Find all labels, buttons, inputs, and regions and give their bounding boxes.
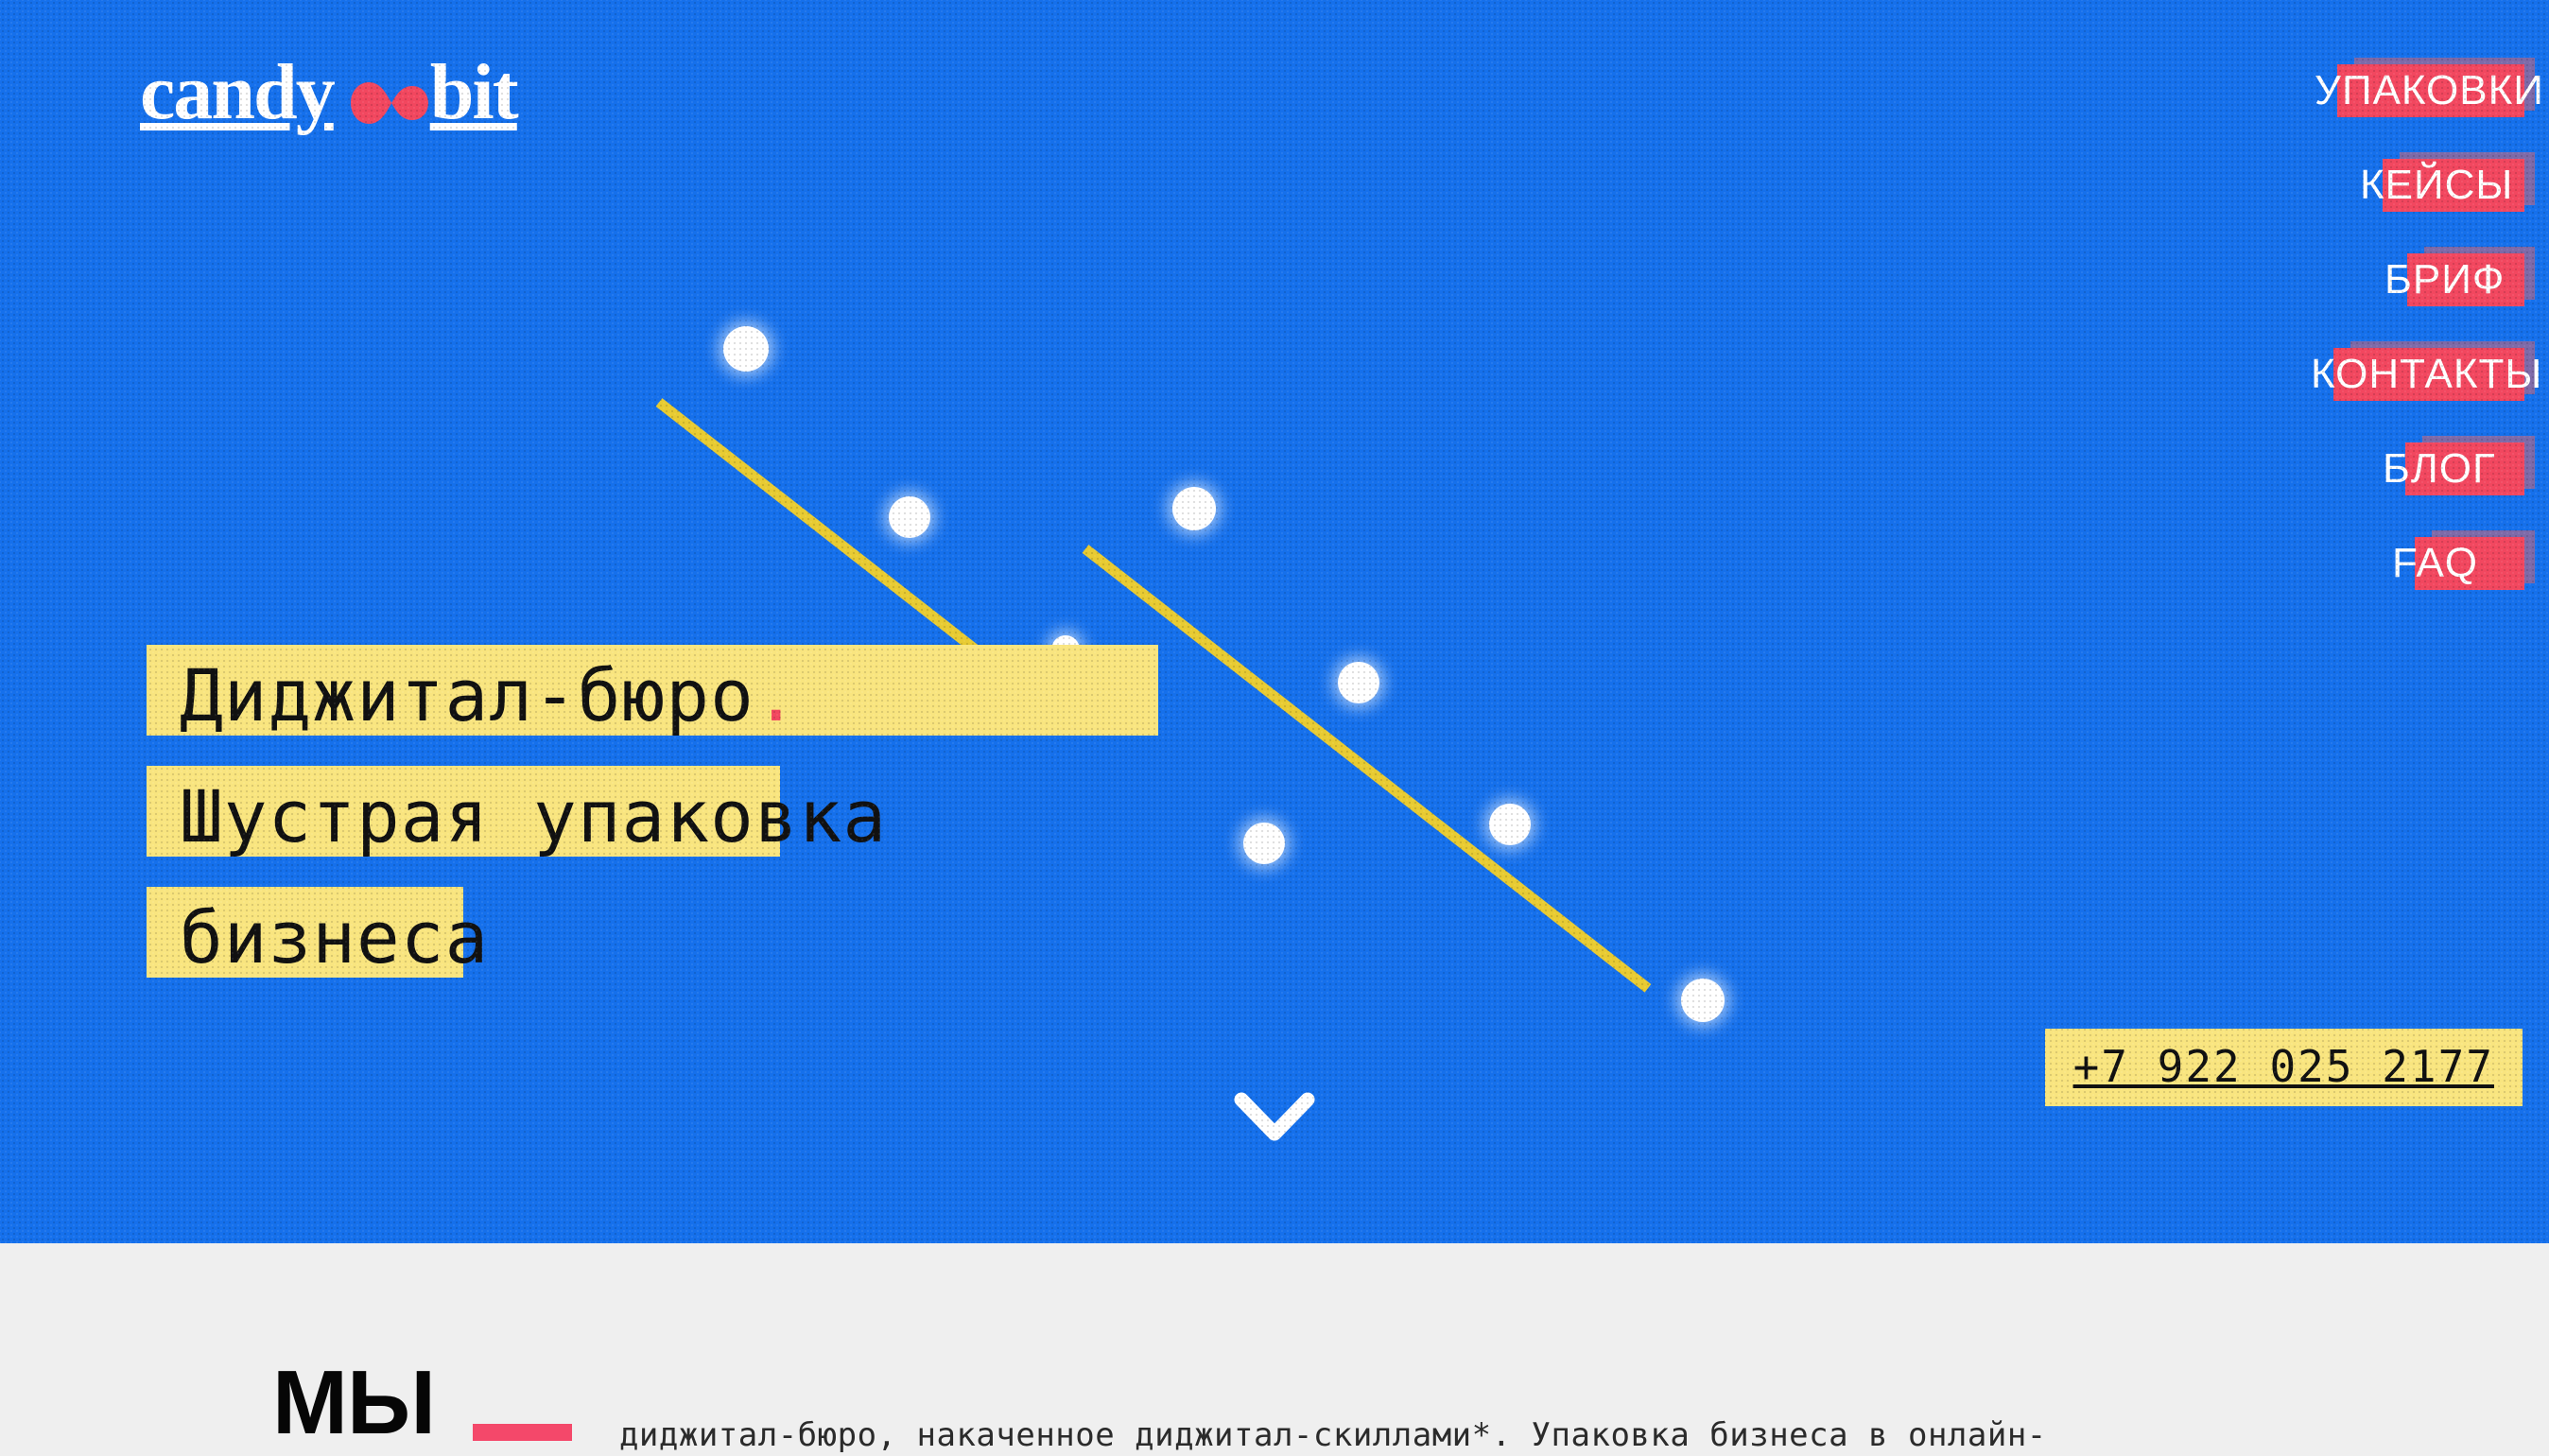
- decor-dot-7: [1489, 804, 1531, 845]
- nav-item-blog[interactable]: БЛОГ: [2405, 442, 2524, 495]
- headline-text-3: бизнеса: [147, 877, 489, 998]
- site-logo[interactable]: candy bit: [140, 59, 517, 127]
- page-root: candy bit УПАКОВКИКЕЙСЫБРИФКОНТАКТЫБЛОГF…: [0, 0, 2549, 1456]
- decor-line-2: [1083, 545, 1652, 992]
- about-divider-dash: [473, 1424, 572, 1441]
- headline-text-1: Диджитал-бюро: [180, 653, 754, 737]
- nav-item-faq[interactable]: FAQ: [2415, 537, 2524, 590]
- about-title: МЫ: [272, 1361, 435, 1445]
- decor-dot-3: [1172, 487, 1216, 530]
- nav-item-label: БЛОГ: [2383, 442, 2530, 495]
- logo-text-bit: bit: [430, 53, 517, 132]
- nav-item-upakovki[interactable]: УПАКОВКИ: [2337, 64, 2524, 117]
- main-navigation: УПАКОВКИКЕЙСЫБРИФКОНТАКТЫБЛОГFAQ: [2333, 64, 2524, 590]
- headline-text-2: Шустрая упаковка: [147, 756, 887, 877]
- decor-dot-1: [723, 326, 769, 372]
- headline-line-3: бизнеса: [147, 877, 887, 998]
- nav-item-label: КОНТАКТЫ: [2311, 348, 2549, 401]
- nav-item-keysy[interactable]: КЕЙСЫ: [2383, 159, 2524, 212]
- decor-dot-2: [889, 496, 930, 538]
- infinity-icon: [338, 67, 428, 126]
- decor-dot-8: [1681, 979, 1725, 1022]
- about-section: МЫ диджитал-бюро, накаченное диджитал-ск…: [0, 1243, 2549, 1456]
- nav-item-label: УПАКОВКИ: [2315, 64, 2549, 117]
- headline-line-1: Диджитал-бюро.: [147, 635, 887, 756]
- nav-item-kontakty[interactable]: КОНТАКТЫ: [2333, 348, 2524, 401]
- hero-section: candy bit УПАКОВКИКЕЙСЫБРИФКОНТАКТЫБЛОГF…: [0, 0, 2549, 1243]
- about-paragraph: диджитал-бюро, накаченное диджитал-скилл…: [619, 1405, 2435, 1456]
- phone-number-button[interactable]: +7 922 025 2177: [2045, 1029, 2523, 1106]
- hero-headline: Диджитал-бюро. Шустрая упаковка бизнеса: [147, 635, 887, 998]
- nav-item-label: FAQ: [2392, 537, 2512, 590]
- decor-dot-4: [1338, 662, 1379, 703]
- headline-accent-dot: .: [754, 653, 799, 737]
- nav-item-label: КЕЙСЫ: [2360, 159, 2547, 212]
- decor-dot-6: [1243, 823, 1285, 864]
- nav-item-label: БРИФ: [2384, 253, 2539, 306]
- nav-item-brif[interactable]: БРИФ: [2407, 253, 2524, 306]
- about-inner: МЫ диджитал-бюро, накаченное диджитал-ск…: [272, 1361, 2435, 1456]
- logo-text-candy: candy: [140, 53, 334, 132]
- chevron-down-icon[interactable]: [1234, 1092, 1315, 1143]
- headline-line-2: Шустрая упаковка: [147, 756, 887, 877]
